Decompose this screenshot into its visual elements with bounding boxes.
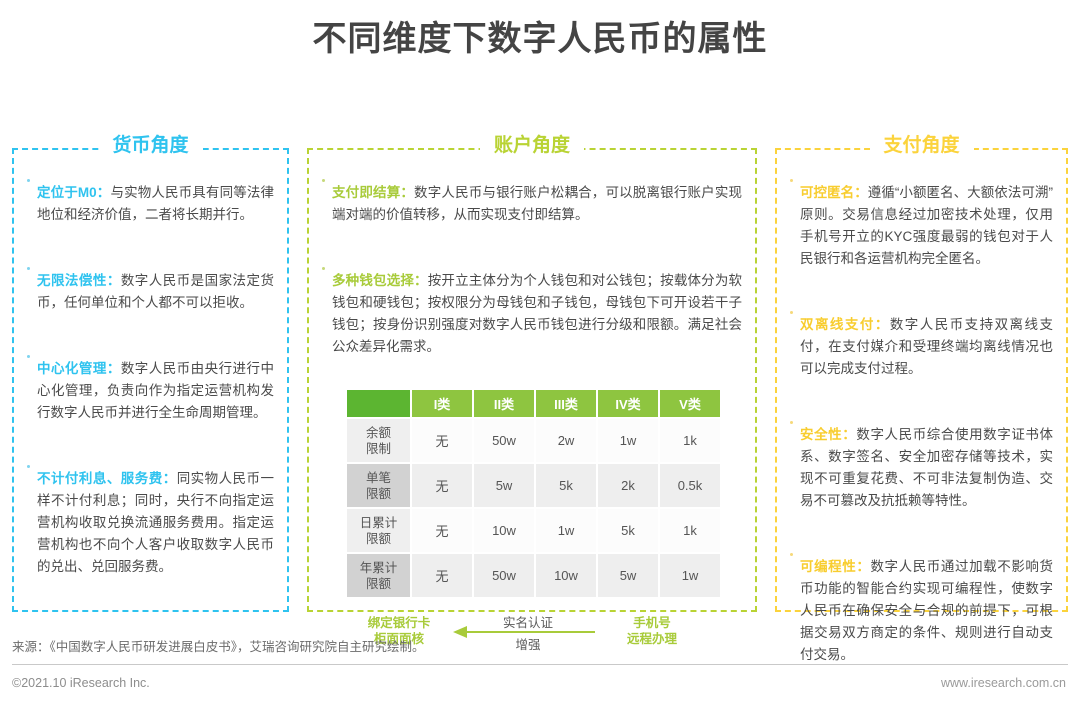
table-cell: 1w (536, 509, 596, 552)
table-col-header: III类 (536, 390, 596, 417)
legend-right-label: 手机号 远程办理 (612, 615, 692, 647)
column-currency-body: 定位于M0：与实物人民币具有同等法律地位和经济价值，二者将长期并行。 无限法偿性… (14, 150, 287, 601)
bullet-dot-icon (27, 264, 37, 270)
table-cell: 无 (412, 464, 472, 507)
column-payment-perspective: 支付角度 可控匿名：遵循“小额匿名、大额依法可溯”原则。交易信息经过加密技术处理… (775, 148, 1068, 612)
table-row: 日累计 限额 无 10w 1w 5k 1k (347, 509, 720, 552)
row-label-line2: 限额 (366, 532, 391, 546)
bullet-text: 无限法偿性：数字人民币是国家法定货币，任何单位和个人都不可以拒收。 (37, 270, 274, 314)
table-cell: 2k (598, 464, 658, 507)
table-row-label: 日累计 限额 (347, 509, 410, 552)
list-item: 不计付利息、服务费：同实物人民币一样不计付利息；同时，央行不向指定运营机构收取兑… (27, 454, 274, 591)
table-row-label: 年累计 限额 (347, 554, 410, 597)
bullet-text: 安全性：数字人民币综合使用数字证书体系、数字签名、安全加密存储等技术，实现不可重… (800, 424, 1053, 512)
table-cell: 50w (474, 554, 534, 597)
legend-arrow-line (467, 631, 595, 633)
legend-mid-line1: 实名认证 (453, 615, 603, 631)
bullet-term: 无限法偿性： (37, 273, 121, 288)
bullet-text: 双离线支付：数字人民币支持双离线支付，在支付媒介和受理终端均离线情况也可以完成支… (800, 314, 1053, 380)
list-item: 安全性：数字人民币综合使用数字证书体系、数字签名、安全加密存储等技术，实现不可重… (790, 410, 1053, 525)
legend-right-line1: 手机号 (633, 616, 671, 630)
row-label-line2: 限额 (366, 487, 391, 501)
legend-mid-line2: 增强 (453, 637, 603, 653)
table-head: I类 II类 III类 IV类 V类 (347, 390, 720, 417)
bullet-term: 支付即结算： (332, 185, 414, 200)
table-cell: 1w (598, 419, 658, 462)
website-url: www.iresearch.com.cn (941, 674, 1066, 692)
table-cell: 无 (412, 419, 472, 462)
table-col-header: I类 (412, 390, 472, 417)
list-item: 多种钱包选择：按开立主体分为个人钱包和对公钱包；按载体分为软钱包和硬钱包；按权限… (322, 256, 742, 371)
list-item: 双离线支付：数字人民币支持双离线支付，在支付媒介和受理终端均离线情况也可以完成支… (790, 300, 1053, 393)
column-account-perspective: 账户角度 支付即结算：数字人民币与银行账户松耦合，可以脱离银行账户实现端对端的价… (307, 148, 757, 612)
row-label-line1: 日累计 (360, 516, 398, 530)
bullet-text: 不计付利息、服务费：同实物人民币一样不计付利息；同时，央行不向指定运营机构收取兑… (37, 468, 274, 578)
table-cell: 5k (536, 464, 596, 507)
copyright-text: ©2021.10 iResearch Inc. (12, 674, 150, 692)
row-label-line2: 限额 (366, 577, 391, 591)
bullet-term: 安全性： (800, 427, 856, 442)
list-item: 定位于M0：与实物人民币具有同等法律地位和经济价值，二者将长期并行。 (27, 168, 274, 239)
list-item: 可控匿名：遵循“小额匿名、大额依法可溯”原则。交易信息经过加密技术处理，仅用手机… (790, 168, 1053, 283)
bullet-dot-icon (322, 264, 332, 270)
wallet-tier-table: I类 II类 III类 IV类 V类 余额 限制 (345, 388, 722, 599)
source-note: 来源：《中国数字人民币研发进展白皮书》，艾瑞咨询研究院自主研究绘制。 (12, 638, 425, 656)
table-cell: 0.5k (660, 464, 720, 507)
bullet-dot-icon (27, 176, 37, 182)
list-item: 无限法偿性：数字人民币是国家法定货币，任何单位和个人都不可以拒收。 (27, 256, 274, 327)
bullet-dot-icon (790, 550, 800, 556)
list-item: 支付即结算：数字人民币与银行账户松耦合，可以脱离银行账户实现端对端的价值转移，从… (322, 168, 742, 239)
bullet-text: 定位于M0：与实物人民币具有同等法律地位和经济价值，二者将长期并行。 (37, 182, 274, 226)
table-cell: 5w (598, 554, 658, 597)
row-label-line1: 余额 (366, 426, 391, 440)
wallet-tier-table-wrapper: I类 II类 III类 IV类 V类 余额 限制 (345, 388, 742, 599)
column-payment-body: 可控匿名：遵循“小额匿名、大额依法可溯”原则。交易信息经过加密技术处理，仅用手机… (777, 150, 1066, 689)
legend-arrow-group: 实名认证 增强 (453, 615, 603, 653)
table-row: 余额 限制 无 50w 2w 1w 1k (347, 419, 720, 462)
bullet-term: 中心化管理： (37, 361, 121, 376)
table-cell: 10w (474, 509, 534, 552)
table-cell: 5w (474, 464, 534, 507)
legend-left-line1: 绑定银行卡 (368, 616, 431, 630)
table-row: 单笔 限额 无 5w 5k 2k 0.5k (347, 464, 720, 507)
bullet-term: 不计付利息、服务费： (37, 471, 177, 486)
table-body: 余额 限制 无 50w 2w 1w 1k 单笔 限 (347, 419, 720, 597)
table-cell: 5k (598, 509, 658, 552)
table-col-header: V类 (660, 390, 720, 417)
bullet-term: 双离线支付： (800, 317, 890, 332)
table-cell: 2w (536, 419, 596, 462)
table-row-label: 单笔 限额 (347, 464, 410, 507)
table-cell: 1w (660, 554, 720, 597)
bullet-dot-icon (790, 418, 800, 424)
row-label-line2: 限制 (366, 442, 391, 456)
bullet-term: 多种钱包选择： (332, 273, 428, 288)
row-label-line1: 年累计 (360, 561, 398, 575)
bullet-text: 可编程性：数字人民币通过加载不影响货币功能的智能合约实现可编程性，使数字人民币在… (800, 556, 1053, 666)
table-col-header: IV类 (598, 390, 658, 417)
list-item: 中心化管理：数字人民币由央行进行中心化管理，负责向作为指定运营机构发行数字人民币… (27, 344, 274, 437)
bullet-text: 多种钱包选择：按开立主体分为个人钱包和对公钱包；按载体分为软钱包和硬钱包；按权限… (332, 270, 742, 358)
column-payment-header: 支付角度 (869, 133, 973, 159)
bullet-term: 可控匿名： (800, 185, 868, 200)
bullet-dot-icon (790, 176, 800, 182)
columns-container: 货币角度 定位于M0：与实物人民币具有同等法律地位和经济价值，二者将长期并行。 … (0, 148, 1080, 618)
bullet-dot-icon (790, 308, 800, 314)
table-cell: 1k (660, 419, 720, 462)
row-label-line1: 单笔 (366, 471, 391, 485)
footer-divider (12, 664, 1068, 665)
bullet-text: 中心化管理：数字人民币由央行进行中心化管理，负责向作为指定运营机构发行数字人民币… (37, 358, 274, 424)
bullet-dot-icon (322, 176, 332, 182)
bullet-dot-icon (27, 352, 37, 358)
table-header-row: I类 II类 III类 IV类 V类 (347, 390, 720, 417)
bullet-term: 定位于M0： (37, 185, 110, 200)
list-item: 可编程性：数字人民币通过加载不影响货币功能的智能合约实现可编程性，使数字人民币在… (790, 542, 1053, 679)
table-cell: 1k (660, 509, 720, 552)
table-cell: 10w (536, 554, 596, 597)
bullet-term: 可编程性： (800, 559, 870, 574)
table-corner-cell (347, 390, 410, 417)
bullet-dot-icon (27, 462, 37, 468)
table-cell: 无 (412, 509, 472, 552)
legend-right-line2: 远程办理 (627, 632, 677, 646)
table-cell: 无 (412, 554, 472, 597)
table-cell: 50w (474, 419, 534, 462)
column-account-header: 账户角度 (480, 133, 584, 159)
column-currency-perspective: 货币角度 定位于M0：与实物人民币具有同等法律地位和经济价值，二者将长期并行。 … (12, 148, 289, 612)
column-currency-header: 货币角度 (98, 133, 202, 159)
bullet-text: 可控匿名：遵循“小额匿名、大额依法可溯”原则。交易信息经过加密技术处理，仅用手机… (800, 182, 1053, 270)
page-title: 不同维度下数字人民币的属性 (0, 14, 1080, 64)
table-col-header: II类 (474, 390, 534, 417)
bullet-text: 支付即结算：数字人民币与银行账户松耦合，可以脱离银行账户实现端对端的价值转移，从… (332, 182, 742, 226)
table-row-label: 余额 限制 (347, 419, 410, 462)
column-account-body: 支付即结算：数字人民币与银行账户松耦合，可以脱离银行账户实现端对端的价值转移，从… (309, 150, 755, 663)
table-row: 年累计 限额 无 50w 10w 5w 1w (347, 554, 720, 597)
